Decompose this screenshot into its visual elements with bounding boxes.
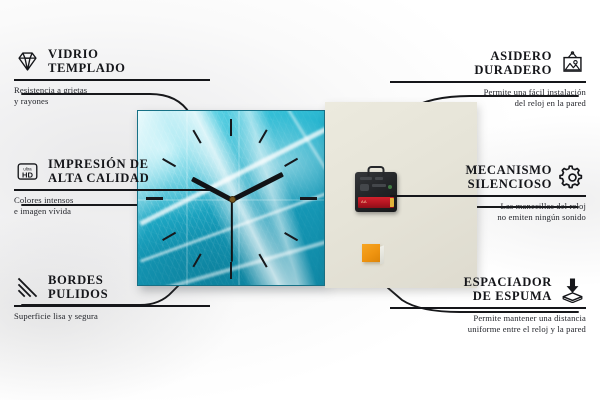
mechanism-detail bbox=[375, 177, 383, 180]
second-hand bbox=[231, 199, 233, 261]
clock-center-pin bbox=[229, 196, 236, 203]
hour-tick-3 bbox=[300, 197, 317, 200]
feature-subtitle-line1: Permite una fácil instalación bbox=[390, 87, 586, 98]
feature-subtitle-line2: uniforme entre el reloj y la pared bbox=[390, 324, 586, 335]
feature-subtitle: Colores intensos e imagen vívida bbox=[14, 195, 210, 218]
hour-tick-6 bbox=[230, 262, 232, 279]
feature-title-line1: BORDES bbox=[48, 274, 108, 287]
feature-espaciador-de-espuma: ESPACIADOR DE ESPUMA Permite mantener un… bbox=[390, 276, 586, 335]
feature-title-line2: PULIDOS bbox=[48, 288, 108, 301]
hanging-frame-icon bbox=[559, 50, 586, 77]
feature-title-line2: DURADERO bbox=[474, 64, 552, 77]
feature-subtitle-line1: Las manecillas del reloj bbox=[390, 201, 586, 212]
feature-title-line2: TEMPLADO bbox=[48, 62, 126, 75]
feature-subtitle: Permite una fácil instalación del reloj … bbox=[390, 87, 586, 110]
infographic-canvas: AA VIDRIO TEMPLADO Resistencia a grietas bbox=[0, 0, 600, 400]
feature-subtitle: Permite mantener una distancia uniforme … bbox=[390, 313, 586, 336]
feature-divider bbox=[390, 195, 586, 197]
feature-divider bbox=[390, 81, 586, 83]
feature-divider bbox=[390, 307, 586, 309]
feature-subtitle-line1: Colores intensos bbox=[14, 195, 210, 206]
mechanism-detail bbox=[372, 184, 386, 187]
feature-divider bbox=[14, 79, 210, 81]
feature-subtitle-line1: Permite mantener una distancia bbox=[390, 313, 586, 324]
polished-edges-icon bbox=[14, 274, 41, 301]
foam-spacer-arrow-icon bbox=[559, 276, 586, 303]
battery: AA bbox=[358, 197, 394, 208]
feature-divider bbox=[14, 305, 210, 307]
feature-title-line2: ALTA CALIDAD bbox=[48, 172, 149, 185]
gear-icon bbox=[559, 164, 586, 191]
feature-subtitle-line1: Resistencia a grietas bbox=[14, 85, 210, 96]
feature-subtitle-line2: y rayones bbox=[14, 96, 210, 107]
feature-title-line1: ASIDERO bbox=[490, 50, 552, 63]
feature-subtitle: Las manecillas del reloj no emiten ningú… bbox=[390, 201, 586, 224]
mechanism-detail bbox=[360, 177, 372, 180]
feature-title-line1: VIDRIO bbox=[48, 48, 126, 61]
feature-title-line1: MECANISMO bbox=[465, 164, 552, 177]
feature-subtitle-line2: no emiten ningún sonido bbox=[390, 212, 586, 223]
foam-spacer-side bbox=[380, 245, 384, 264]
feature-subtitle-line1: Superficie lisa y segura bbox=[14, 311, 210, 322]
diamond-icon bbox=[14, 48, 41, 75]
hour-tick-12 bbox=[230, 119, 232, 136]
feature-impresion-alta-calidad: ultra HD IMPRESIÓN DE ALTA CALIDAD Color… bbox=[14, 158, 210, 217]
mechanism-detail bbox=[360, 184, 369, 191]
feature-vidrio-templado: VIDRIO TEMPLADO Resistencia a grietas y … bbox=[14, 48, 210, 107]
feature-subtitle: Resistencia a grietas y rayones bbox=[14, 85, 210, 108]
feature-asidero-duradero: ASIDERO DURADERO Permite una fácil insta… bbox=[390, 50, 586, 109]
feature-subtitle-line2: del reloj en la pared bbox=[390, 98, 586, 109]
feature-subtitle: Superficie lisa y segura bbox=[14, 311, 210, 322]
feature-mecanismo-silencioso: MECANISMO SILENCIOSO Las manecillas del … bbox=[390, 164, 586, 223]
ultra-hd-badge-icon: ultra HD bbox=[14, 158, 41, 185]
feature-title-line2: SILENCIOSO bbox=[468, 178, 552, 191]
wall-hanger-hook-icon bbox=[368, 166, 385, 176]
feature-divider bbox=[14, 189, 210, 191]
feature-title-line1: IMPRESIÓN DE bbox=[48, 158, 149, 171]
feature-title-line2: DE ESPUMA bbox=[473, 290, 552, 303]
foam-spacer bbox=[362, 244, 380, 262]
feature-bordes-pulidos: BORDES PULIDOS Superficie lisa y segura bbox=[14, 274, 210, 322]
ultra-hd-bottom-text: HD bbox=[22, 170, 33, 179]
feature-subtitle-line2: e imagen vívida bbox=[14, 206, 210, 217]
feature-title-line1: ESPACIADOR bbox=[464, 276, 552, 289]
battery-label: AA bbox=[361, 199, 367, 204]
